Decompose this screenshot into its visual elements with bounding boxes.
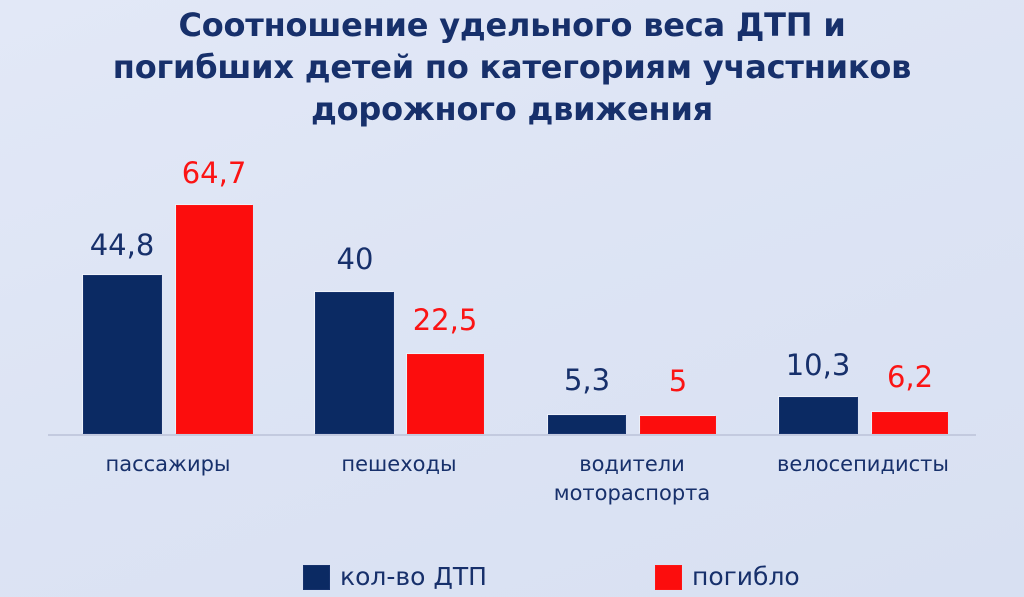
value-label-motor-drivers-killed: 5 — [608, 364, 748, 398]
legend-swatch-accidents-icon — [303, 565, 330, 590]
plot-area: 44,8 64,7 пассажиры 40 22,5 пешеходы 5,3… — [0, 0, 1024, 597]
category-label-motor-drivers: водители мотораспорта — [522, 450, 742, 508]
category-label-motor-drivers-line-1: водители — [522, 450, 742, 479]
value-label-passengers-killed: 64,7 — [144, 156, 284, 190]
bar-passengers-accidents[interactable] — [83, 275, 162, 434]
category-label-cyclists: велосепидисты — [753, 450, 973, 479]
legend-label-accidents: кол-во ДТП — [340, 562, 487, 592]
category-axis-line — [48, 434, 976, 436]
value-label-cyclists-killed: 6,2 — [840, 360, 980, 394]
bar-passengers-killed[interactable] — [176, 205, 253, 434]
bar-motor-drivers-killed[interactable] — [640, 416, 716, 434]
legend-label-killed: погибло — [692, 562, 800, 592]
legend-item-killed[interactable]: погибло — [655, 562, 800, 592]
category-label-pedestrians: пешеходы — [289, 450, 509, 479]
category-label-passengers: пассажиры — [58, 450, 278, 479]
bar-cyclists-accidents[interactable] — [779, 397, 858, 434]
legend-swatch-killed-icon — [655, 565, 682, 590]
legend-item-accidents[interactable]: кол-во ДТП — [303, 562, 487, 592]
bar-motor-drivers-accidents[interactable] — [548, 415, 626, 434]
category-label-pedestrians-line-1: пешеходы — [289, 450, 509, 479]
bar-pedestrians-killed[interactable] — [407, 354, 484, 434]
category-label-motor-drivers-line-2: мотораспорта — [522, 479, 742, 508]
category-label-cyclists-line-1: велосепидисты — [753, 450, 973, 479]
value-label-pedestrians-accidents: 40 — [285, 242, 425, 276]
category-label-passengers-line-1: пассажиры — [58, 450, 278, 479]
bar-cyclists-killed[interactable] — [872, 412, 948, 434]
chart-slide: Соотношение удельного веса ДТП и погибши… — [0, 0, 1024, 597]
chart-legend: кол-во ДТП погибло — [0, 558, 1024, 597]
value-label-passengers-accidents: 44,8 — [52, 228, 192, 262]
value-label-pedestrians-killed: 22,5 — [375, 303, 515, 337]
